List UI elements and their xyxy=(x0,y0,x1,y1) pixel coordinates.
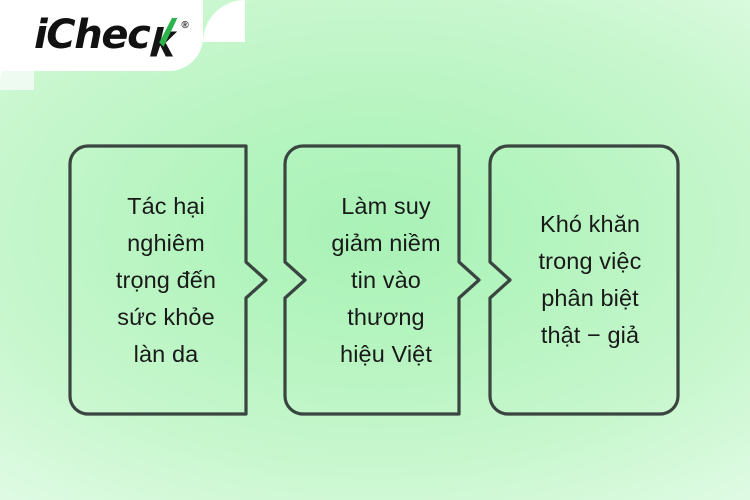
flow-step-1[interactable]: Tác hại nghiêm trọng đến sức khỏe làn da xyxy=(68,144,268,416)
flow-step-3-label: Khó khăn trong việc phân biệt thật − giả xyxy=(527,206,654,354)
check-k-icon xyxy=(146,15,180,59)
brand-wordmark: iChec xyxy=(34,15,149,55)
brand-logo: iChec ® xyxy=(34,15,189,59)
slide-canvas: iChec ® Tác hại nghiêm trọng đến sức khỏ… xyxy=(0,0,750,500)
flow-step-1-label: Tác hại nghiêm trọng đến sức khỏe làn da xyxy=(104,188,228,373)
process-flow-diagram: Tác hại nghiêm trọng đến sức khỏe làn da… xyxy=(0,0,750,500)
registered-trademark-icon: ® xyxy=(181,21,188,31)
flow-step-3[interactable]: Khó khăn trong việc phân biệt thật − giả xyxy=(488,144,680,416)
flow-step-2[interactable]: Làm suy giảm niềm tin vào thương hiệu Vi… xyxy=(283,144,481,416)
flow-step-2-label: Làm suy giảm niềm tin vào thương hiệu Vi… xyxy=(319,188,452,373)
